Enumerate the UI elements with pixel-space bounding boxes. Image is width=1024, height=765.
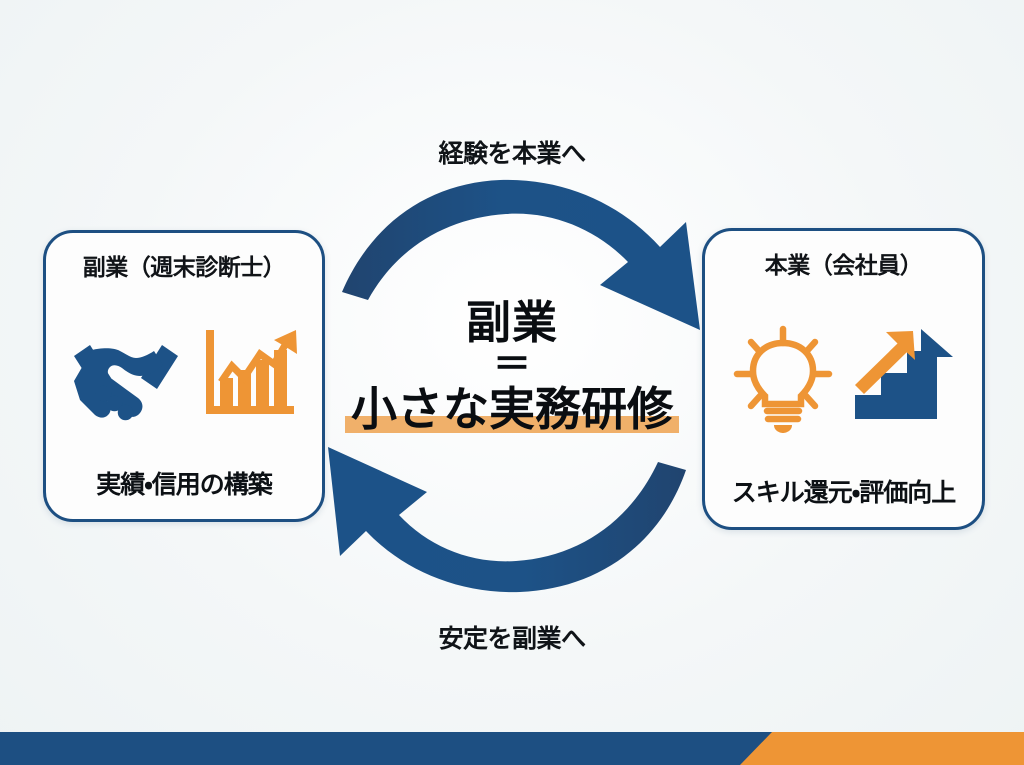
bottom-bar-navy-segment bbox=[0, 732, 772, 765]
center-statement: 副業 ＝ 小さな実務研修 bbox=[0, 300, 1024, 434]
cycle-label-bottom: 安定を副業へ bbox=[0, 619, 1024, 655]
center-line-highlighted-wrap: 小さな実務研修 bbox=[345, 385, 679, 433]
card-caption: スキル還元・評価向上 bbox=[732, 480, 956, 508]
card-title: 副業（週末診断士） bbox=[83, 255, 286, 280]
center-line-predicate: 小さな実務研修 bbox=[345, 383, 679, 435]
cycle-label-top: 経験を本業へ bbox=[0, 134, 1024, 170]
slide-canvas: 副業（週末診断士） bbox=[0, 0, 1024, 765]
center-equals-sign: ＝ bbox=[0, 349, 1024, 382]
card-title: 本業（会社員） bbox=[765, 253, 923, 278]
card-caption: 実績・信用の構築 bbox=[96, 472, 272, 500]
bottom-accent-bar bbox=[0, 732, 1024, 765]
center-line-subject: 副業 bbox=[0, 300, 1024, 347]
curved-arrow-left-icon bbox=[328, 447, 686, 592]
